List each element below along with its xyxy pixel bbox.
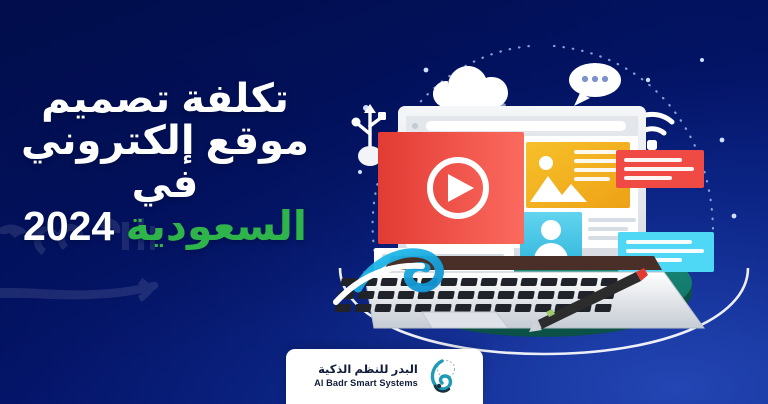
headline-line-1: تكلفة تصميم (0, 78, 330, 120)
headline-country: السعودية (126, 203, 307, 249)
red-text-bubble (616, 150, 704, 188)
al-badr-calligraphy-mark (425, 359, 455, 395)
logo-arabic-name: البدر للنظم الذكية (318, 364, 418, 378)
headline-year: 2024 (23, 203, 114, 249)
laptop-web-design-illustration (330, 20, 768, 380)
headline-line-4: السعودية 2024 (0, 205, 330, 248)
cloud-icon (433, 66, 508, 110)
chat-bubble-icon (569, 63, 621, 106)
laptop (334, 106, 714, 328)
headline-line-2: موقع إلكتروني (0, 120, 330, 162)
video-card (378, 132, 524, 244)
company-logo[interactable]: البدر للنظم الذكية Al Badr Smart Systems (286, 349, 483, 404)
headline-block: تكلفة تصميم موقع إلكتروني في السعودية 20… (0, 78, 330, 249)
image-card (526, 142, 630, 208)
logo-english-name: Al Badr Smart Systems (314, 378, 418, 389)
headline-line-3: في (0, 163, 330, 205)
logo-text-block: البدر للنظم الذكية Al Badr Smart Systems (314, 364, 418, 388)
banner-canvas: تكلفة تصميم موقع إلكتروني في السعودية 20… (0, 0, 768, 404)
